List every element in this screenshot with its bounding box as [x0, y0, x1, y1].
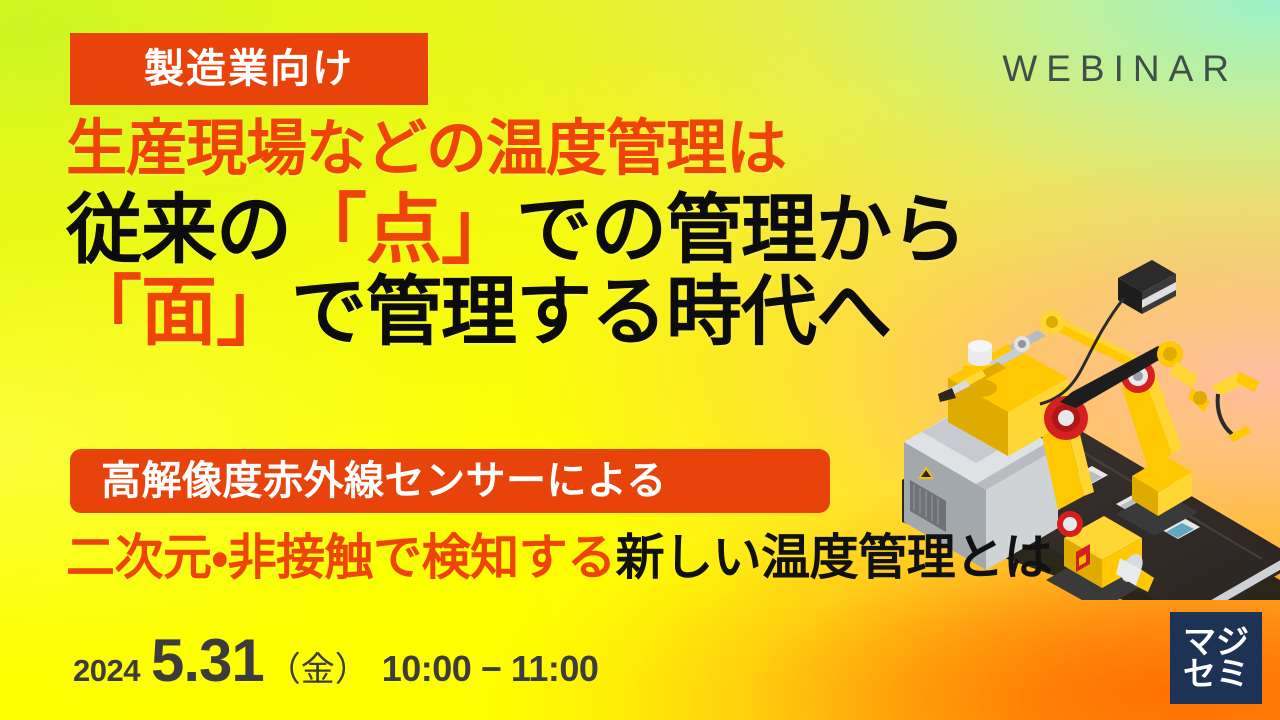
headline-line-2-part-3: での管理から	[516, 188, 966, 273]
subtitle-line: 二次元・非接触で検知する新しい温度管理とは	[66, 533, 1052, 584]
sub-badge-label: 高解像度赤外線センサーによる	[101, 461, 667, 501]
headline-line-3-part-2: で管理する時代へ	[291, 270, 891, 355]
category-badge-label: 製造業向け	[144, 49, 354, 89]
sub-badge: 高解像度赤外線センサーによる	[70, 449, 830, 513]
subtitle-part-1: 二次元・非接触で検知する	[66, 531, 616, 585]
headline-line-2-part-1: 従来の	[66, 188, 291, 273]
headline-line-3: 「面」で管理する時代へ	[66, 275, 966, 351]
subtitle-part-2: 新しい温度管理とは	[616, 531, 1053, 585]
majisemi-logo[interactable]: マジ セミ	[1170, 612, 1262, 704]
logo-line-2: セミ	[1183, 658, 1249, 690]
headline: 生産現場などの温度管理は 従来の「点」での管理から 「面」で管理する時代へ	[66, 118, 966, 357]
headline-line-3-part-1: 「面」	[66, 270, 291, 355]
event-year: 2024	[73, 653, 140, 689]
event-datetime: 2024 5.31 （金） 10:00 − 11:00	[73, 626, 598, 695]
headline-line-1: 生産現場などの温度管理は	[66, 118, 966, 179]
webinar-banner: 製造業向け WEBINAR 生産現場などの温度管理は 従来の「点」での管理から …	[0, 0, 1280, 720]
category-badge: 製造業向け	[70, 33, 428, 105]
banner-content: 製造業向け WEBINAR 生産現場などの温度管理は 従来の「点」での管理から …	[0, 0, 1280, 720]
event-weekday: （金）	[267, 642, 369, 691]
event-date: 5.31	[151, 626, 264, 695]
headline-line-2: 従来の「点」での管理から	[66, 193, 966, 269]
webinar-label: WEBINAR	[1002, 50, 1238, 87]
headline-line-2-part-2: 「点」	[291, 188, 516, 273]
logo-line-1: マジ	[1183, 626, 1249, 658]
event-time: 10:00 − 11:00	[382, 648, 599, 690]
